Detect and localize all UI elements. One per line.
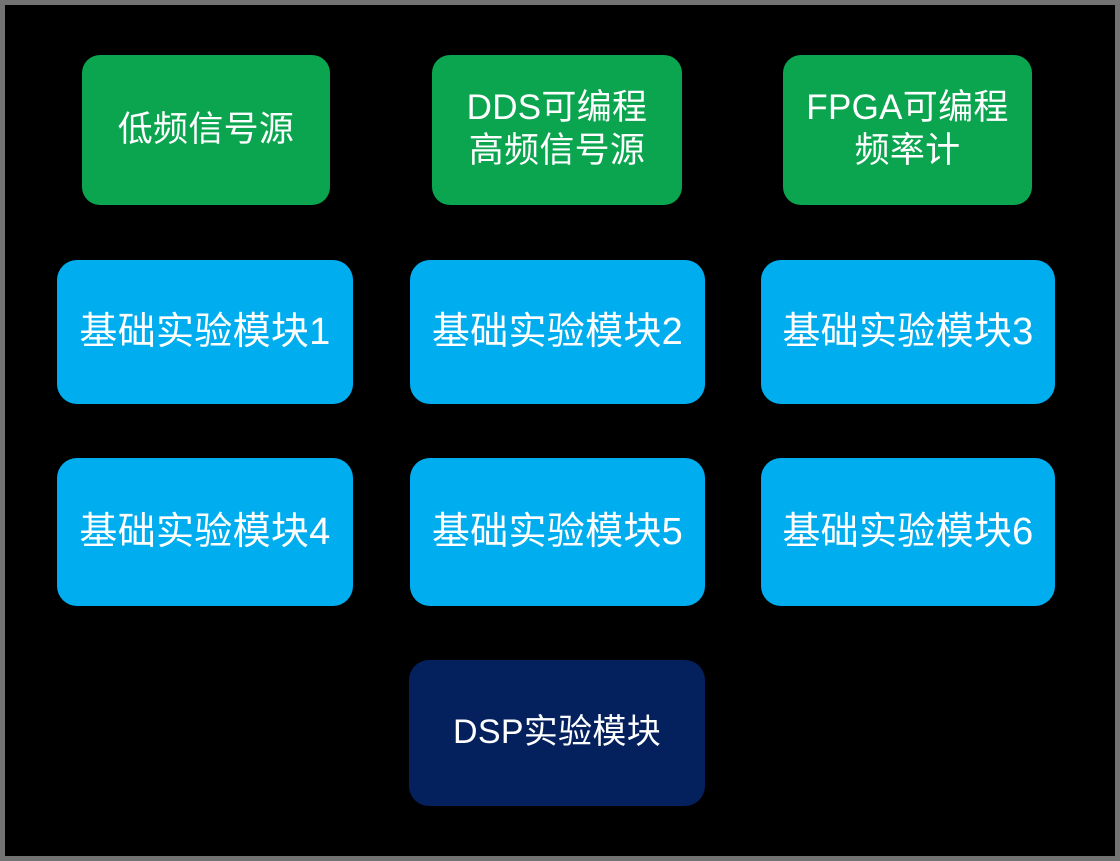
node-fpga-programmable-frequency-counter[interactable]: FPGA可编程 频率计: [783, 55, 1032, 205]
node-dsp-experiment-module[interactable]: DSP实验模块: [409, 660, 705, 806]
node-basic-experiment-module-2[interactable]: 基础实验模块2: [410, 260, 705, 404]
node-low-frequency-signal-source[interactable]: 低频信号源: [82, 55, 330, 205]
node-basic-experiment-module-3[interactable]: 基础实验模块3: [761, 260, 1055, 404]
node-basic-experiment-module-6[interactable]: 基础实验模块6: [761, 458, 1055, 606]
diagram-canvas: 低频信号源 DDS可编程 高频信号源 FPGA可编程 频率计 基础实验模块1 基…: [5, 5, 1115, 856]
node-dds-programmable-high-frequency-signal-source[interactable]: DDS可编程 高频信号源: [432, 55, 682, 205]
node-basic-experiment-module-5[interactable]: 基础实验模块5: [410, 458, 705, 606]
node-basic-experiment-module-1[interactable]: 基础实验模块1: [57, 260, 353, 404]
node-basic-experiment-module-4[interactable]: 基础实验模块4: [57, 458, 353, 606]
